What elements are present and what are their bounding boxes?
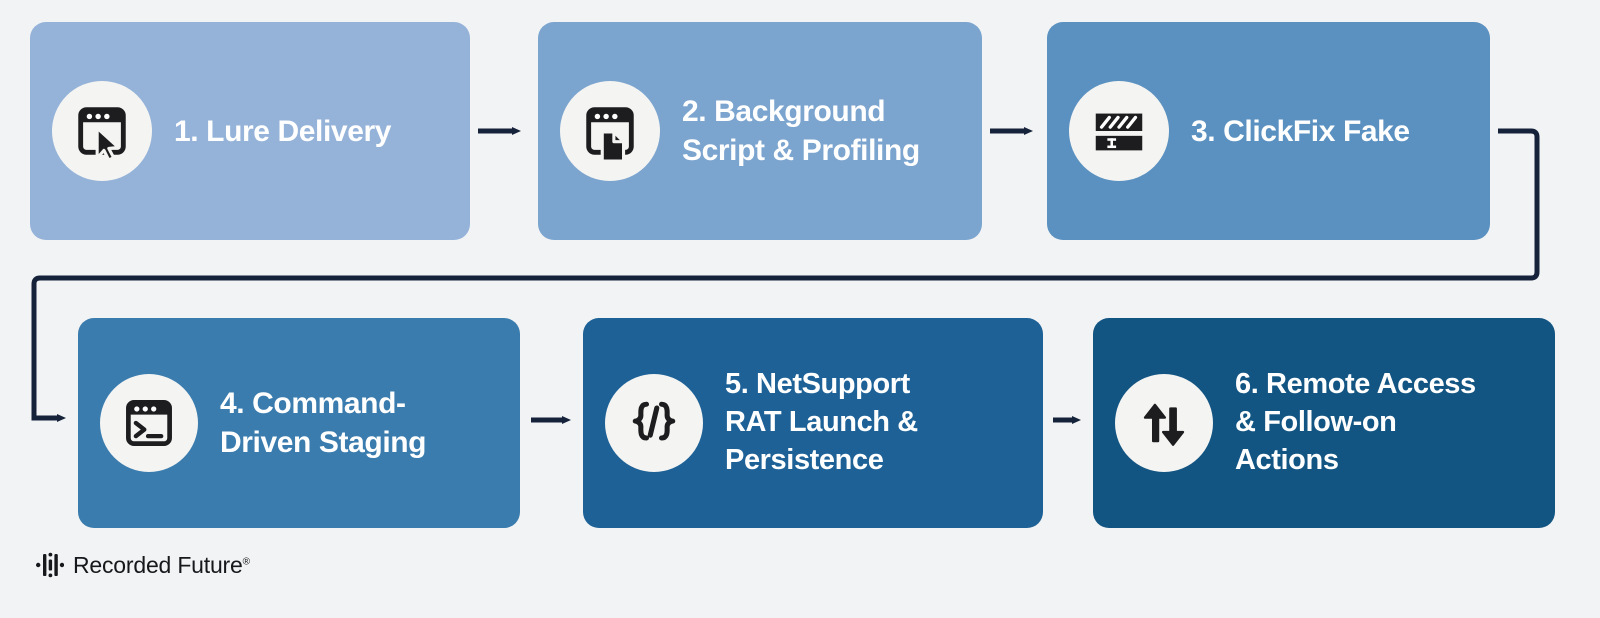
- step-1-icon-badge: [52, 81, 152, 181]
- diagram-canvas: 1. Lure Delivery 2. Background Script & …: [0, 0, 1600, 618]
- step-2-icon-badge: [560, 81, 660, 181]
- terminal-window-icon: [119, 393, 179, 453]
- step-5-netsupport-rat-launch-persistence[interactable]: 5. NetSupport RAT Launch & Persistence: [583, 318, 1043, 528]
- step-5-label: 5. NetSupport RAT Launch & Persistence: [725, 366, 918, 479]
- step-4-label: 4. Command- Driven Staging: [220, 384, 426, 462]
- captcha-input-icon: [1088, 100, 1150, 162]
- brand-name: Recorded Future: [73, 552, 243, 578]
- step-6-icon-badge: [1115, 374, 1213, 472]
- step-2-label: 2. Background Script & Profiling: [682, 92, 920, 170]
- step-6-label: 6. Remote Access & Follow-on Actions: [1235, 366, 1476, 479]
- step-2-background-script-profiling[interactable]: 2. Background Script & Profiling: [538, 22, 982, 240]
- step-3-label: 3. ClickFix Fake: [1191, 112, 1410, 151]
- browser-window-document-icon: [579, 100, 641, 162]
- arrows-up-down-icon: [1135, 394, 1193, 452]
- recorded-future-logo: Recorded Future®: [36, 550, 250, 580]
- step-6-remote-access-follow-on-actions[interactable]: 6. Remote Access & Follow-on Actions: [1093, 318, 1555, 528]
- step-3-clickfix-fake[interactable]: 3. ClickFix Fake: [1047, 22, 1490, 240]
- step-1-lure-delivery[interactable]: 1. Lure Delivery: [30, 22, 470, 240]
- browser-window-cursor-icon: [71, 100, 133, 162]
- code-braces-icon: [624, 393, 684, 453]
- brand-wordmark: Recorded Future®: [73, 552, 250, 579]
- recorded-future-waveform-logo: [36, 550, 64, 580]
- step-1-label: 1. Lure Delivery: [174, 112, 391, 151]
- registered-trademark-symbol: ®: [243, 556, 250, 567]
- step-4-command-driven-staging[interactable]: 4. Command- Driven Staging: [78, 318, 520, 528]
- step-4-icon-badge: [100, 374, 198, 472]
- step-5-icon-badge: [605, 374, 703, 472]
- step-3-icon-badge: [1069, 81, 1169, 181]
